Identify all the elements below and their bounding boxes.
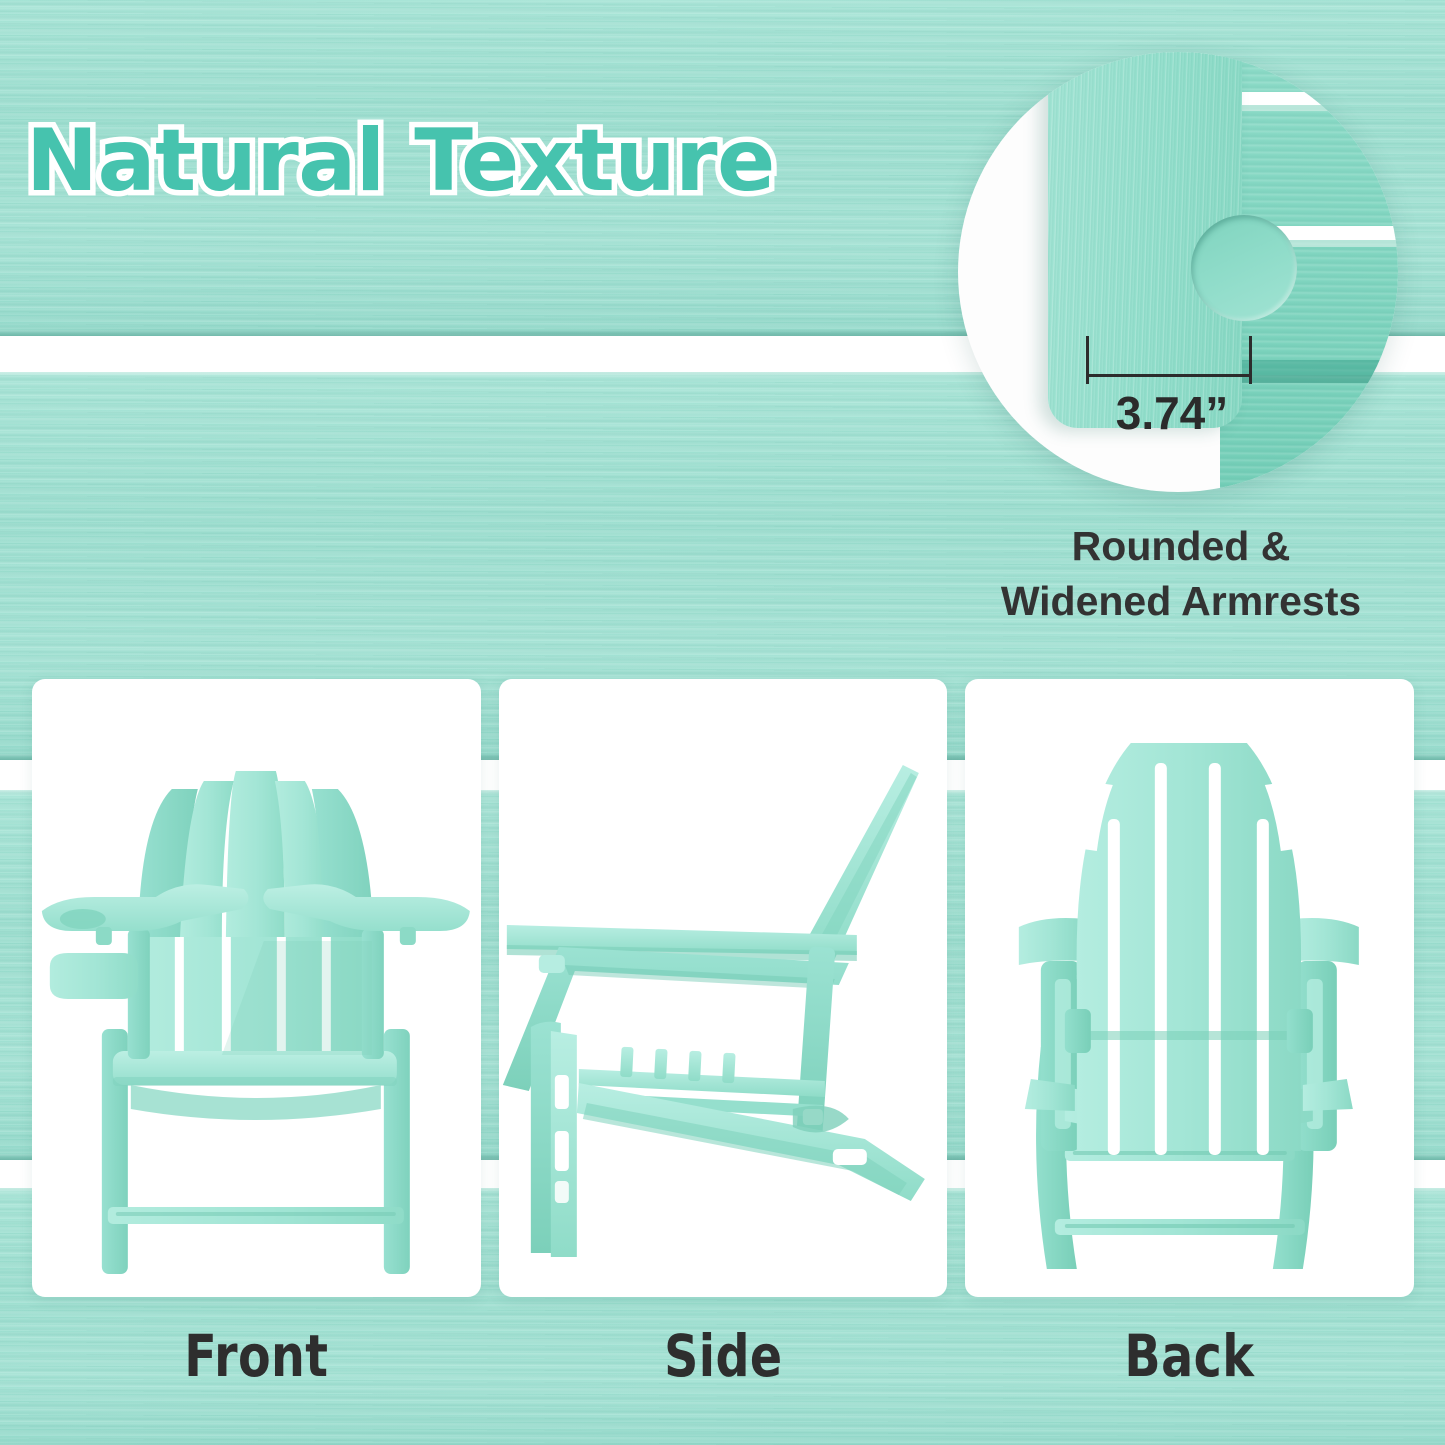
headline-natural-texture: Natural Texture (26, 118, 775, 204)
chair-side-image (499, 679, 948, 1297)
caption-line-2: Widened Armrests (940, 574, 1422, 629)
photo-card-back (965, 679, 1414, 1297)
view-label-side: Side (539, 1322, 907, 1417)
armrest-caption: Rounded & Widened Armrests (940, 519, 1422, 628)
product-infographic: Natural Texture 3.74” Rounded & Widened … (0, 0, 1445, 1445)
product-view-gallery (32, 679, 1414, 1297)
chair-back-image (965, 679, 1414, 1297)
photo-card-side (499, 679, 948, 1297)
dimension-label: 3.74” (1092, 386, 1252, 440)
dimension-bracket (1086, 336, 1252, 384)
view-label-row: Front Side Back (32, 1322, 1414, 1417)
cup-holder-hole-icon (1191, 215, 1297, 321)
caption-line-1: Rounded & (940, 519, 1422, 574)
view-label-front: Front (72, 1322, 440, 1417)
photo-card-front (32, 679, 481, 1297)
view-label-back: Back (1006, 1322, 1374, 1417)
bracket-bar (1086, 374, 1252, 377)
chair-front-image (32, 679, 481, 1297)
